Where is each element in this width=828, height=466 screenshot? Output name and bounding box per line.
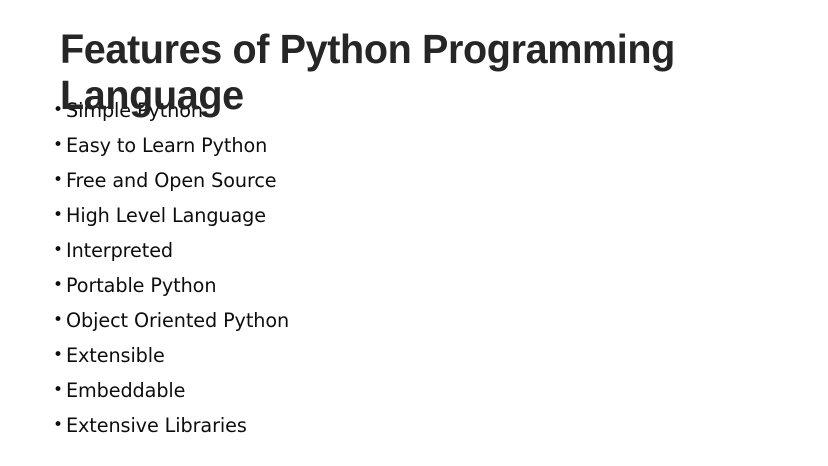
feature-bullet-list: • Simple Python • Easy to Learn Python •… <box>52 96 752 446</box>
bullet-dot-icon: • <box>53 411 63 440</box>
list-item-label: Easy to Learn Python <box>66 131 267 160</box>
list-item: • High Level Language <box>52 201 752 236</box>
list-item-label: High Level Language <box>66 201 266 230</box>
presentation-slide: Features of Python Programming Language … <box>0 0 828 466</box>
list-item: • Free and Open Source <box>52 166 752 201</box>
list-item: • Interpreted <box>52 236 752 271</box>
bullet-dot-icon: • <box>53 306 63 335</box>
bullet-dot-icon: • <box>53 166 63 195</box>
bullet-dot-icon: • <box>53 201 63 230</box>
bullet-dot-icon: • <box>53 271 63 300</box>
list-item: • Easy to Learn Python <box>52 131 752 166</box>
list-item: • Object Oriented Python <box>52 306 752 341</box>
list-item-label: Object Oriented Python <box>66 306 289 335</box>
bullet-dot-icon: • <box>53 236 63 265</box>
list-item: • Extensible <box>52 341 752 376</box>
list-item: • Embeddable <box>52 376 752 411</box>
list-item-label: Simple Python <box>66 96 203 125</box>
list-item: • Extensive Libraries <box>52 411 752 446</box>
body-content-placeholder: • Simple Python • Easy to Learn Python •… <box>52 96 752 446</box>
bullet-dot-icon: • <box>53 341 63 370</box>
list-item: • Portable Python <box>52 271 752 306</box>
bullet-dot-icon: • <box>53 131 63 160</box>
list-item-label: Portable Python <box>66 271 216 300</box>
list-item-label: Free and Open Source <box>66 166 277 195</box>
list-item: • Simple Python <box>52 96 752 131</box>
bullet-dot-icon: • <box>53 376 63 405</box>
bullet-dot-icon: • <box>53 96 63 125</box>
list-item-label: Embeddable <box>66 376 185 405</box>
list-item-label: Extensible <box>66 341 165 370</box>
list-item-label: Interpreted <box>66 236 173 265</box>
list-item-label: Extensive Libraries <box>66 411 247 440</box>
